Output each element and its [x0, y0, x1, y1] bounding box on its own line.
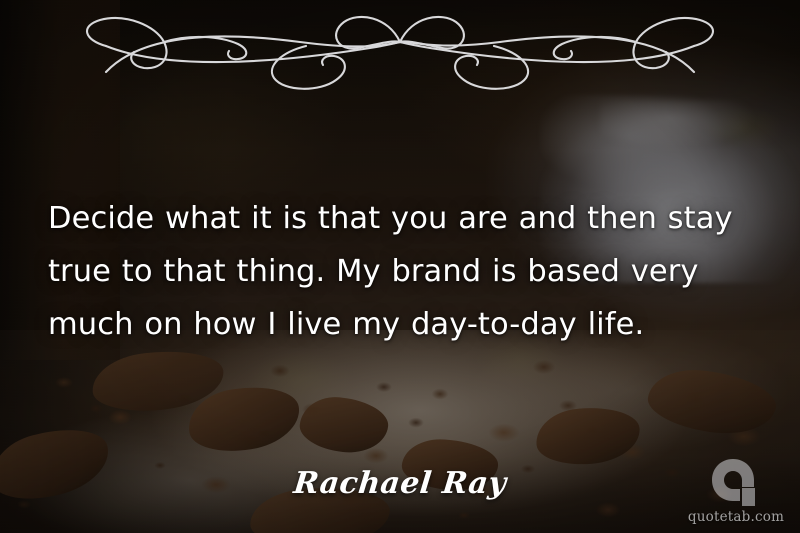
author-name: Rachael Ray [0, 466, 800, 501]
quotetab-logo-icon [710, 457, 762, 507]
flourish-ornament-icon [70, 8, 730, 94]
quote-text: Decide what it is that you are and then … [48, 192, 752, 351]
watermark-site-label: quotetab.com [684, 509, 788, 525]
quote-image-card: Decide what it is that you are and then … [0, 0, 800, 533]
watermark[interactable]: quotetab.com [684, 457, 788, 525]
